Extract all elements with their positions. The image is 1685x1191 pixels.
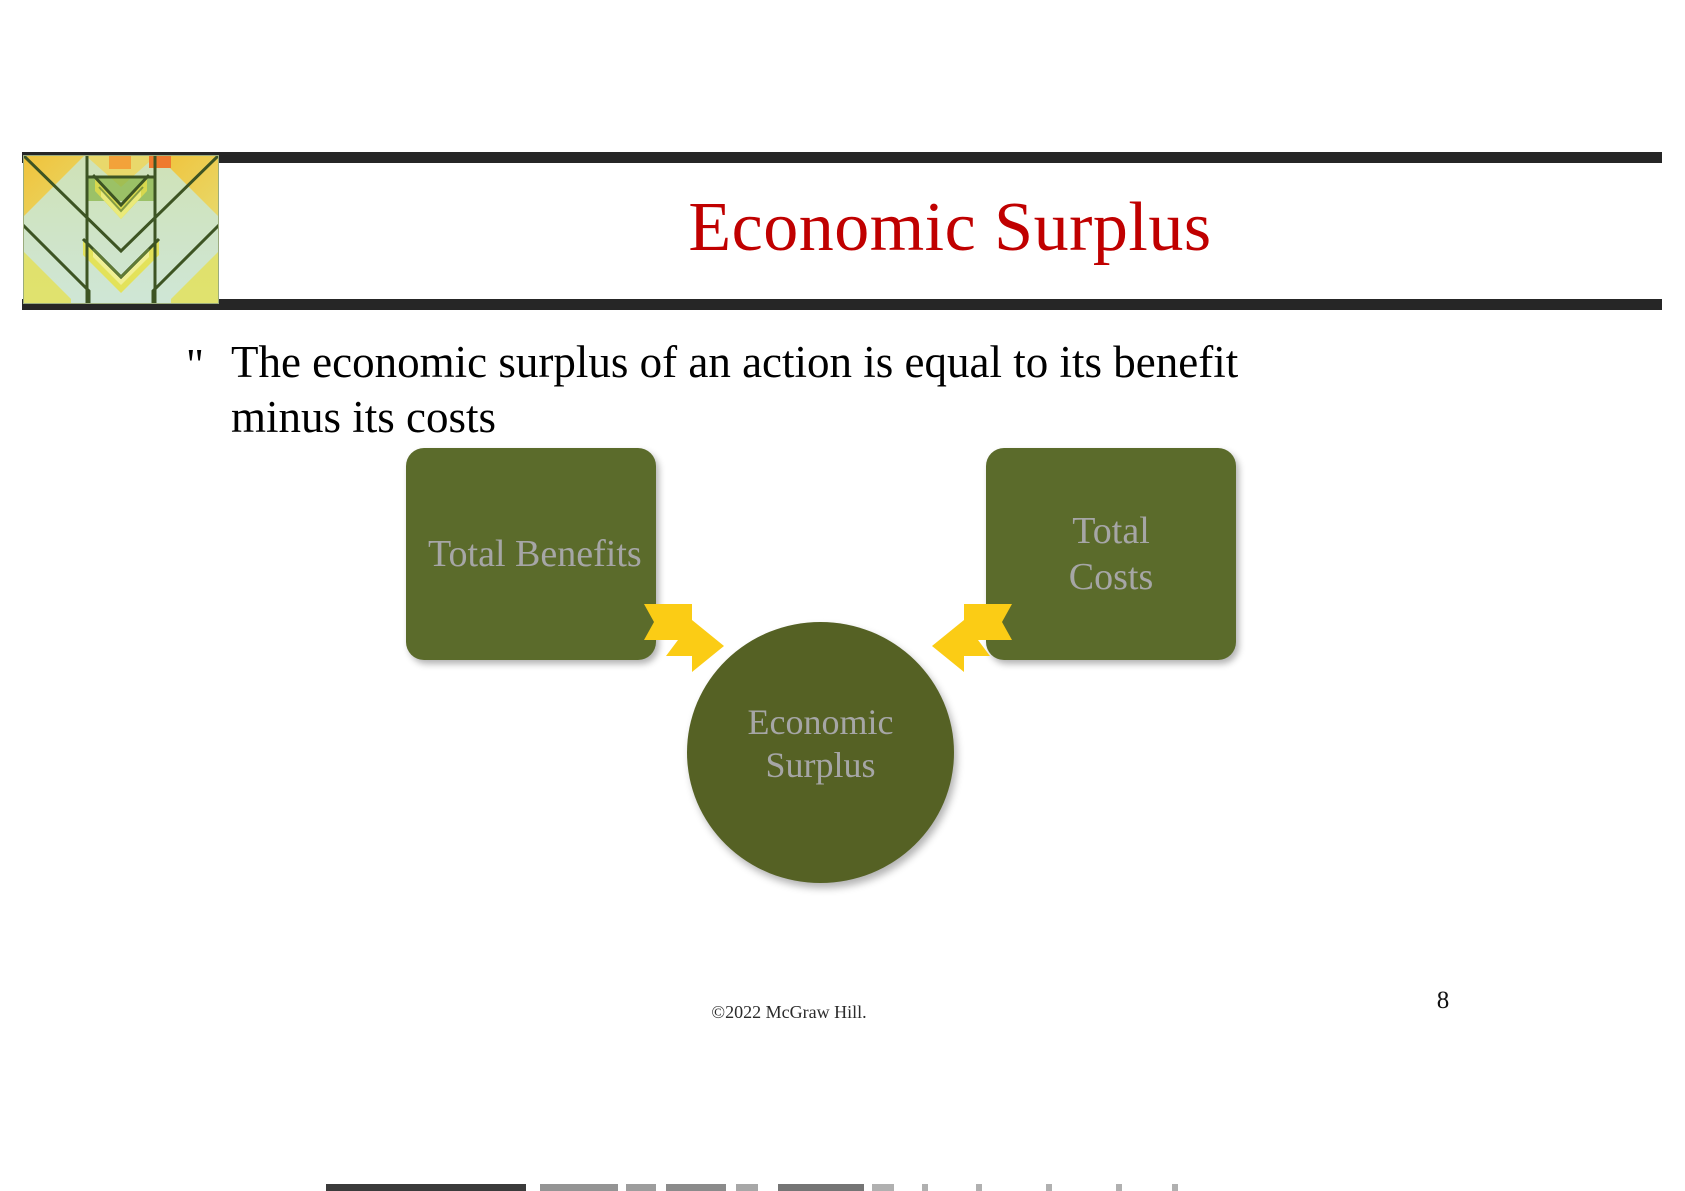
- page-title: Economic Surplus: [240, 186, 1660, 270]
- diagram-box-total-benefits: Total Benefits: [406, 448, 656, 660]
- arrow-benefits-to-surplus-icon: [632, 600, 728, 682]
- stained-glass-logo: [23, 155, 219, 304]
- diagram-circle-economic-surplus-label: EconomicSurplus: [748, 701, 894, 787]
- diagram-box-total-costs-label: TotalCosts: [1069, 508, 1153, 600]
- arrow-costs-to-surplus-icon: [928, 600, 1024, 682]
- header-rule-top: [22, 152, 1662, 163]
- bullet-item: " The economic surplus of an action is e…: [186, 335, 1316, 445]
- bottom-cutoff-sliver: [326, 1184, 1226, 1191]
- bullet-marker-icon: ": [186, 335, 204, 393]
- economic-surplus-diagram: Total Benefits TotalCosts EconomicSurplu…: [0, 430, 1685, 920]
- copyright-notice: ©2022 McGraw Hill.: [0, 1002, 1578, 1023]
- header-rule-bottom: [22, 299, 1662, 310]
- slide-canvas: Economic Surplus " The economic surplus …: [0, 0, 1685, 1191]
- page-number: 8: [1413, 987, 1473, 1015]
- diagram-box-total-benefits-label: Total Benefits: [428, 531, 642, 577]
- bullet-text: The economic surplus of an action is equ…: [231, 335, 1316, 445]
